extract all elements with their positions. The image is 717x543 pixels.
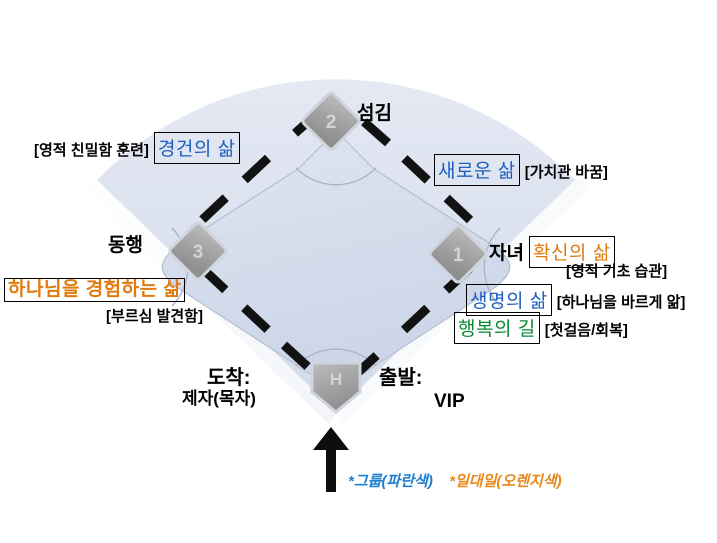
second-base-number: 2 <box>326 112 337 133</box>
station-title-first: 자녀 <box>489 238 524 265</box>
course-name-haengbok[interactable]: 행복의 길 <box>454 312 540 344</box>
course-note-hwaksin: [영적 기초 습관] <box>566 264 667 279</box>
course-row-kyungun: [영적 친밀함 훈련] 경건의 삶 <box>34 132 240 164</box>
legend-one-on-one: *일대일(오렌지색) <box>449 473 561 490</box>
course-note-saeroun: [가치관 바꿈] <box>525 161 608 182</box>
course-note-saengmyeong: [하나님을 바르게 앎] <box>557 291 686 312</box>
arrive-label: 도착: <box>207 368 250 388</box>
course-note-hananim: [부르심 발견함] <box>106 309 203 324</box>
legend-group: *그룹(파란색) <box>348 473 433 490</box>
first-base-number: 1 <box>453 245 464 266</box>
home-plate-number: H <box>330 370 342 389</box>
station-title-second: 섬김 <box>357 104 392 123</box>
diagram-canvas: 2 1 3 H 섬김 [영적 친밀함 훈련] 경건의 삶 새로운 삶 [가치관 … <box>0 0 717 543</box>
entry-arrow-icon <box>313 427 349 492</box>
arrive-value: 제자(목자) <box>182 390 256 407</box>
course-row-saeroun: 새로운 삶 [가치관 바꿈] <box>434 154 608 186</box>
course-name-kyungun[interactable]: 경건의 삶 <box>154 132 240 164</box>
start-value: VIP <box>434 392 465 411</box>
legend: *그룹(파란색) *일대일(오렌지색) <box>348 470 562 491</box>
course-note-haengbok: [첫걸음/회복] <box>545 319 628 340</box>
course-name-hananim[interactable]: 하나님을 경험하는 삶 <box>4 278 185 302</box>
third-base-number: 3 <box>193 242 204 263</box>
course-row-haengbok: 행복의 길 [첫걸음/회복] <box>454 312 628 344</box>
course-note-kyungun: [영적 친밀함 훈련] <box>34 139 149 160</box>
start-label: 출발: <box>379 368 422 388</box>
station-title-third: 동행 <box>108 236 143 255</box>
course-name-saeroun[interactable]: 새로운 삶 <box>434 154 520 186</box>
